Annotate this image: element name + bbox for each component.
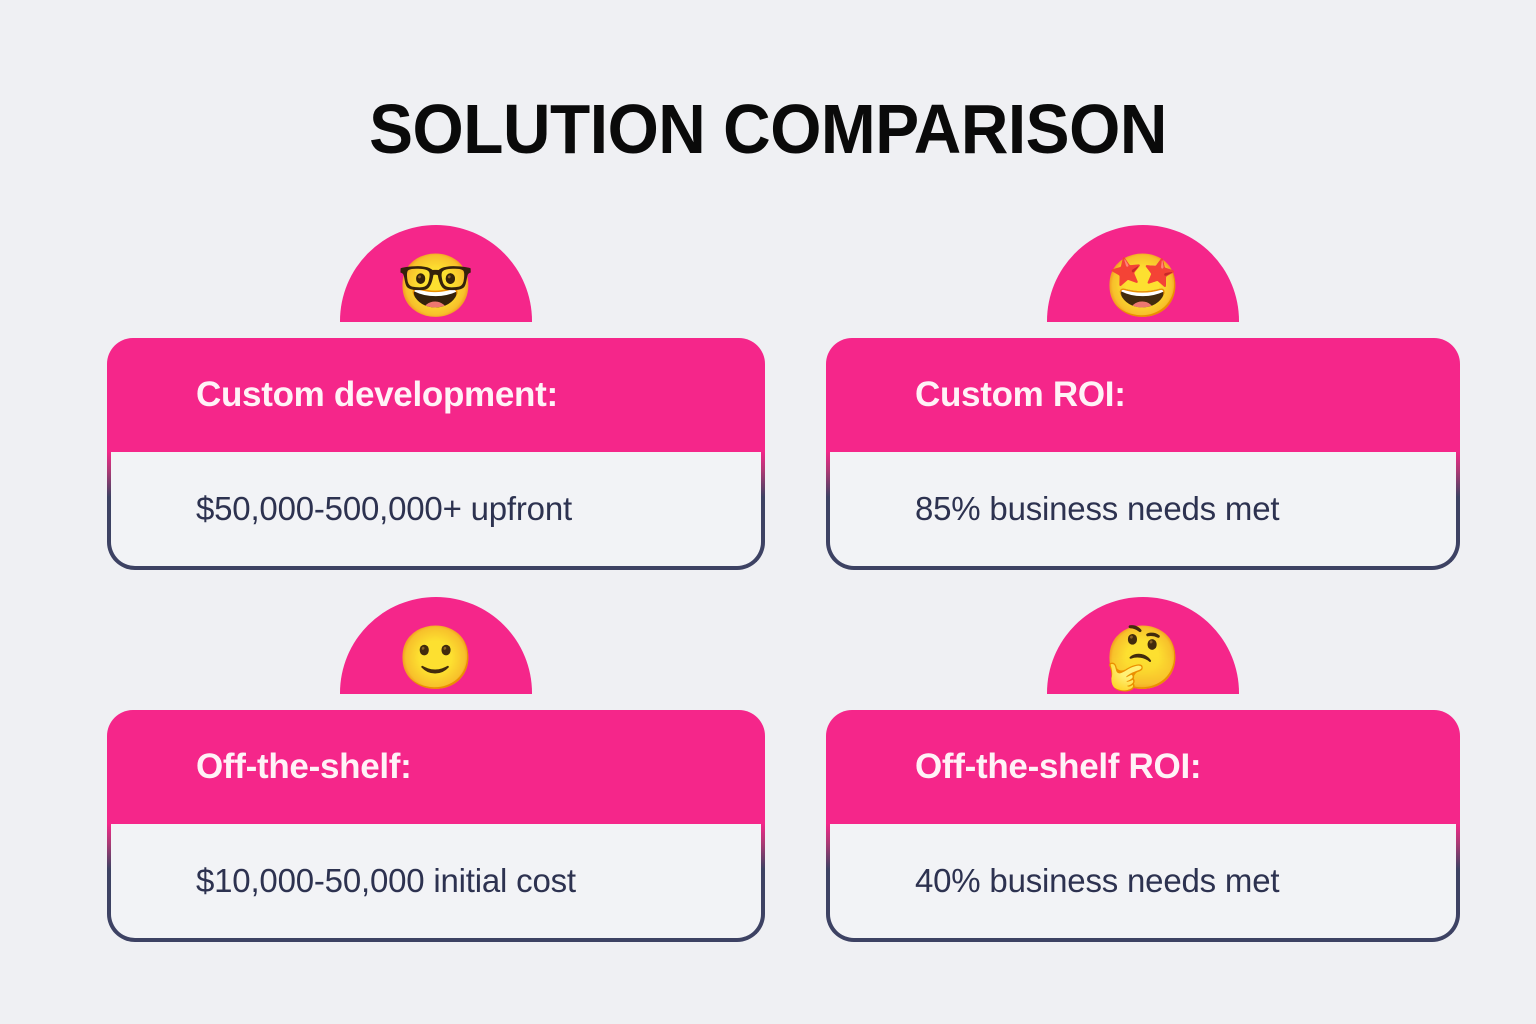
slightly-smiling-face-emoji: 🙂 <box>397 628 474 690</box>
dome-gap <box>826 694 1460 710</box>
card-header: Custom ROI: <box>826 338 1460 452</box>
comparison-card-custom-roi: 🤩 Custom ROI: 85% business needs met <box>826 225 1460 570</box>
comparison-card-custom-development: 🤓 Custom development: $50,000-500,000+ u… <box>107 225 765 570</box>
comparison-card-off-the-shelf: 🙂 Off-the-shelf: $10,000-50,000 initial … <box>107 597 765 942</box>
card-header-label: Custom development: <box>196 376 558 415</box>
card-header: Custom development: <box>107 338 765 452</box>
card-body-value: $50,000-500,000+ upfront <box>196 491 572 527</box>
card-header-label: Off-the-shelf ROI: <box>915 748 1201 787</box>
star-struck-emoji: 🤩 <box>1104 256 1181 318</box>
card-body: 40% business needs met <box>826 824 1460 942</box>
card-body: 85% business needs met <box>826 452 1460 570</box>
comparison-cards-grid: 🤓 Custom development: $50,000-500,000+ u… <box>107 225 1460 945</box>
page-title: SOLUTION COMPARISON <box>46 94 1490 164</box>
dome-gap <box>826 322 1460 338</box>
card-body-value: 40% business needs met <box>915 863 1279 899</box>
card-body-value: 85% business needs met <box>915 491 1279 527</box>
card-header-label: Off-the-shelf: <box>196 748 412 787</box>
comparison-card-off-the-shelf-roi: 🤔 Off-the-shelf ROI: 40% business needs … <box>826 597 1460 942</box>
card-body: $10,000-50,000 initial cost <box>107 824 765 942</box>
nerd-face-emoji: 🤓 <box>397 256 474 318</box>
thinking-face-emoji: 🤔 <box>1104 628 1181 690</box>
card-header-label: Custom ROI: <box>915 376 1126 415</box>
emoji-dome: 🤓 <box>340 225 532 322</box>
card-header: Off-the-shelf: <box>107 710 765 824</box>
card: Custom ROI: 85% business needs met <box>826 338 1460 570</box>
card: Custom development: $50,000-500,000+ upf… <box>107 338 765 570</box>
card: Off-the-shelf: $10,000-50,000 initial co… <box>107 710 765 942</box>
dome-gap <box>107 322 765 338</box>
card-body: $50,000-500,000+ upfront <box>107 452 765 570</box>
emoji-dome: 🙂 <box>340 597 532 694</box>
card: Off-the-shelf ROI: 40% business needs me… <box>826 710 1460 942</box>
emoji-dome: 🤩 <box>1047 225 1239 322</box>
dome-gap <box>107 694 765 710</box>
card-body-value: $10,000-50,000 initial cost <box>196 863 576 899</box>
card-header: Off-the-shelf ROI: <box>826 710 1460 824</box>
emoji-dome: 🤔 <box>1047 597 1239 694</box>
